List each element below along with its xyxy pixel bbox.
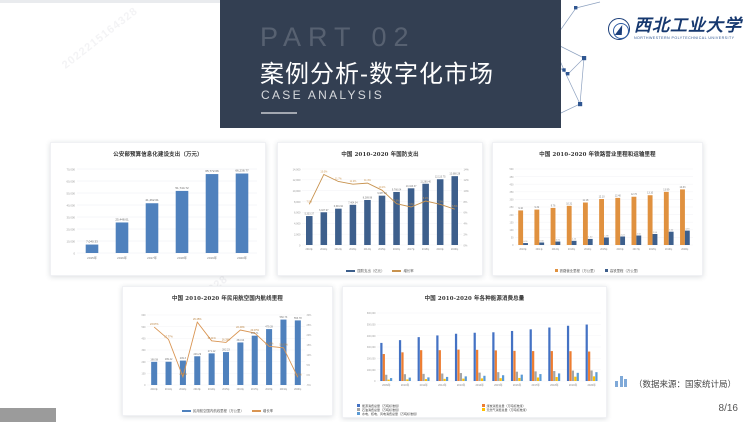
chart-card-railway: 中国 2010-2020 年铁路营业里程和运输里程 50045040035030… <box>492 142 703 276</box>
svg-text:2016年: 2016年 <box>117 255 127 260</box>
svg-text:2011年: 2011年 <box>165 387 173 391</box>
svg-text:2019年: 2019年 <box>569 383 578 387</box>
svg-text:10%: 10% <box>464 189 470 193</box>
svg-text:9.32: 9.32 <box>535 206 540 209</box>
svg-text:2009年: 2009年 <box>382 383 391 387</box>
svg-text:25%: 25% <box>307 324 313 327</box>
svg-text:2016年: 2016年 <box>237 387 245 391</box>
svg-text:11.7%: 11.7% <box>335 177 342 180</box>
svg-text:2013年: 2013年 <box>349 247 357 251</box>
svg-text:364.64: 364.64 <box>237 339 245 342</box>
svg-text:8,289.98: 8,289.98 <box>363 196 373 199</box>
svg-text:2017年: 2017年 <box>531 383 540 387</box>
chart-title: 中国 2010-2020 年铁路营业里程和运输里程 <box>493 143 702 158</box>
university-name-en: NORTHWESTERN POLYTECHNICAL UNIVERSITY <box>634 37 742 41</box>
svg-text:2014年: 2014年 <box>364 247 372 251</box>
chart-legend: 铁路营业里程（万公里） 高铁里程（万公里） <box>493 268 702 273</box>
svg-text:2010年: 2010年 <box>519 247 527 251</box>
svg-text:2015年: 2015年 <box>494 383 503 387</box>
svg-text:0.66: 0.66 <box>540 240 545 242</box>
chart-legend: 能源消费总量（万吨标准煤） 煤炭消费总量（万吨标准煤） 石油消费总量（万吨标准煤… <box>357 404 600 416</box>
svg-text:-5%: -5% <box>307 384 312 387</box>
legend-item: 国防支出（亿元） <box>346 268 384 273</box>
player-control-nub[interactable] <box>0 408 56 422</box>
svg-text:70,000: 70,000 <box>66 167 75 171</box>
svg-text:50,000: 50,000 <box>66 191 75 195</box>
legend-item: 水电、核电、风电消费总量（万吨标准煤） <box>357 412 476 416</box>
svg-text:10.1%: 10.1% <box>379 186 387 189</box>
chart-title: 中国 2010-2020 年民用航空国内航线里程 <box>123 287 332 302</box>
svg-text:150: 150 <box>510 221 515 224</box>
svg-text:2,000: 2,000 <box>294 232 301 236</box>
svg-text:9.10: 9.10 <box>518 207 523 210</box>
svg-text:10,000: 10,000 <box>66 239 75 243</box>
svg-text:65,772.66: 65,772.66 <box>205 169 219 173</box>
svg-text:10,000: 10,000 <box>293 189 301 193</box>
svg-text:8.1%: 8.1% <box>423 197 429 200</box>
svg-text:0.51: 0.51 <box>523 241 528 243</box>
svg-text:2016年: 2016年 <box>513 383 522 387</box>
svg-text:20.97%: 20.97% <box>250 329 259 332</box>
svg-text:0: 0 <box>374 380 376 383</box>
svg-text:200: 200 <box>142 361 147 364</box>
legend-label: 高铁里程（万公里） <box>610 269 641 273</box>
data-source-note: （数据来源：国家统计局） <box>634 378 736 390</box>
svg-text:23.97%: 23.97% <box>150 323 159 326</box>
svg-text:100: 100 <box>510 229 515 232</box>
chart-card-civil-aviation: 中国 2010-2020 年民用航空国内航线里程 600500400300200… <box>122 286 333 416</box>
svg-text:2017年: 2017年 <box>407 247 415 251</box>
section-title-en: CASE ANALYSIS <box>261 88 384 102</box>
svg-text:2012年: 2012年 <box>335 247 343 251</box>
svg-text:2018年: 2018年 <box>265 387 273 391</box>
svg-text:500: 500 <box>142 326 147 329</box>
chart-plot-area: 500450400350300250200150100500 9.100.519… <box>493 161 702 275</box>
svg-text:2011年: 2011年 <box>320 247 328 251</box>
svg-text:-0.88%: -0.88% <box>179 373 188 376</box>
university-name-cn: 西北工业大学 <box>634 18 742 35</box>
svg-text:9.76: 9.76 <box>551 204 556 207</box>
svg-text:2019年: 2019年 <box>280 387 288 391</box>
legend-item: 民用航空国内航线里程（万公里） <box>182 408 244 413</box>
svg-text:2014年: 2014年 <box>584 247 592 251</box>
legend-label: 铁路营业里程（万公里） <box>560 269 597 273</box>
svg-text:199.42: 199.42 <box>165 358 173 361</box>
chart-card-defense-spending: 中国 2010-2020 年国防支出 14,00012,00010,0008,0… <box>277 142 483 276</box>
svg-text:2017年: 2017年 <box>633 247 641 251</box>
svg-text:2016年: 2016年 <box>616 247 624 251</box>
svg-text:0: 0 <box>73 251 75 255</box>
svg-text:400: 400 <box>142 338 147 341</box>
svg-text:2017年: 2017年 <box>147 255 157 260</box>
svg-text:30%: 30% <box>307 314 313 317</box>
svg-text:246.29: 246.29 <box>193 353 201 356</box>
legend-item: 天然气消费总量（万吨标准煤） <box>482 408 601 412</box>
svg-text:8%: 8% <box>464 200 468 204</box>
svg-text:22.49%: 22.49% <box>236 326 245 329</box>
svg-text:13.99: 13.99 <box>663 188 670 191</box>
svg-text:198.58: 198.58 <box>150 358 158 361</box>
svg-text:2011年: 2011年 <box>420 383 429 387</box>
svg-text:400,000: 400,000 <box>367 335 376 338</box>
slide-top-edge <box>0 0 220 3</box>
svg-text:14,000: 14,000 <box>293 167 301 171</box>
chart-card-public-security: 公安部预算信息化建设支出（万元） 70,00060,00050,00040,00… <box>50 142 266 276</box>
svg-text:7.5%: 7.5% <box>307 200 313 203</box>
svg-text:60,000: 60,000 <box>66 179 75 183</box>
presentation-slide: 2022215164328 2022215164328 202221516432… <box>0 0 752 422</box>
svg-text:500: 500 <box>510 168 515 171</box>
svg-text:200: 200 <box>510 214 515 217</box>
legend-label: 国防支出（亿元） <box>357 269 384 273</box>
svg-text:209.3: 209.3 <box>180 357 187 360</box>
svg-text:2019年: 2019年 <box>436 247 444 251</box>
svg-text:2011年: 2011年 <box>536 247 544 251</box>
svg-text:41,462.01: 41,462.01 <box>145 198 159 202</box>
svg-text:282.23: 282.23 <box>222 349 230 352</box>
svg-text:12.10: 12.10 <box>599 196 606 199</box>
legend-label: 增长率 <box>263 409 273 413</box>
svg-text:12,113.75: 12,113.75 <box>435 176 446 179</box>
chart-title: 中国 2010-2020 年各种能源消费总量 <box>343 287 606 302</box>
chart-plot-area: 600,000500,000400,000300,000200,000100,0… <box>343 305 606 417</box>
svg-text:7,404.04: 7,404.04 <box>348 201 358 204</box>
svg-text:15%: 15% <box>307 344 313 347</box>
svg-text:600,000: 600,000 <box>367 312 376 315</box>
svg-text:2013年: 2013年 <box>457 383 466 387</box>
svg-text:6,691.92: 6,691.92 <box>334 205 344 208</box>
svg-text:40,000: 40,000 <box>66 203 75 207</box>
svg-text:2020年: 2020年 <box>237 255 247 260</box>
svg-text:250: 250 <box>510 206 515 209</box>
svg-text:2018年: 2018年 <box>422 247 430 251</box>
svg-text:2016年: 2016年 <box>393 247 401 251</box>
legend-label: 民用航空国内航线里程（万公里） <box>193 409 244 413</box>
svg-text:12,680.28: 12,680.28 <box>449 173 460 176</box>
svg-text:6%: 6% <box>464 211 468 215</box>
svg-text:2015年: 2015年 <box>87 255 97 260</box>
svg-text:2019年: 2019年 <box>207 255 217 260</box>
svg-text:6,000: 6,000 <box>294 211 301 215</box>
svg-text:14%: 14% <box>464 167 470 171</box>
svg-text:6.6%: 6.6% <box>452 205 458 208</box>
chart-title: 公安部预算信息化建设支出（万元） <box>51 143 265 158</box>
svg-text:2019年: 2019年 <box>665 247 673 251</box>
svg-text:2013年: 2013年 <box>568 247 576 251</box>
svg-text:10%: 10% <box>307 354 313 357</box>
svg-text:51,744.72: 51,744.72 <box>175 186 189 190</box>
page-number: 8/16 <box>719 403 738 414</box>
chart-plot-area: 6005004003002001000 30%25%20%15%10%5%0%-… <box>123 305 332 415</box>
svg-text:16.28%: 16.28% <box>222 338 231 341</box>
svg-text:2.50: 2.50 <box>637 233 642 235</box>
svg-text:2015年: 2015年 <box>378 247 386 251</box>
svg-text:66,238.77: 66,238.77 <box>235 169 249 173</box>
svg-text:6,027.97: 6,027.97 <box>319 209 329 212</box>
chart-title: 中国 2010-2020 年国防支出 <box>278 143 482 158</box>
svg-text:553.78: 553.78 <box>294 317 302 320</box>
svg-text:17.77%: 17.77% <box>164 335 173 338</box>
svg-text:0%: 0% <box>464 243 468 247</box>
svg-text:2012年: 2012年 <box>552 247 560 251</box>
svg-text:200,000: 200,000 <box>367 358 376 361</box>
svg-text:7,040.33: 7,040.33 <box>86 240 98 244</box>
legend-item: 铁路营业里程（万公里） <box>555 268 597 273</box>
chart-svg: 70,00060,00050,00040,00030,00020,00010,0… <box>51 161 266 276</box>
svg-text:2015年: 2015年 <box>222 387 230 391</box>
svg-text:4%: 4% <box>464 222 468 226</box>
svg-text:1.98: 1.98 <box>604 235 609 237</box>
legend-label: 天然气消费总量（万吨标准煤） <box>487 408 529 412</box>
svg-text:10.31: 10.31 <box>566 202 573 205</box>
svg-text:2013年: 2013年 <box>194 387 202 391</box>
svg-text:271.12: 271.12 <box>208 350 216 353</box>
svg-text:600: 600 <box>142 314 147 317</box>
svg-text:350: 350 <box>510 191 515 194</box>
svg-text:2017年: 2017年 <box>251 387 259 391</box>
legend-item: 高铁里程（万公里） <box>605 268 641 273</box>
svg-text:-1.13%: -1.13% <box>294 373 303 376</box>
svg-text:2010年: 2010年 <box>306 247 314 251</box>
svg-text:2020年: 2020年 <box>681 247 689 251</box>
svg-text:100,000: 100,000 <box>367 369 376 372</box>
svg-text:2010年: 2010年 <box>401 383 410 387</box>
svg-text:2020年: 2020年 <box>294 387 302 391</box>
svg-text:13.10: 13.10 <box>647 192 654 195</box>
chart-svg: 600,000500,000400,000300,000200,000100,0… <box>343 305 607 405</box>
chart-legend: 民用航空国内航线里程（万公里） 增长率 <box>123 408 332 413</box>
chart-legend: 国防支出（亿元） 增长率 <box>278 268 482 273</box>
svg-text:2010年: 2010年 <box>150 387 158 391</box>
svg-text:0: 0 <box>144 384 146 387</box>
section-part-label: PART 02 <box>260 22 416 53</box>
svg-text:4,000: 4,000 <box>294 222 301 226</box>
svg-text:13.63%: 13.63% <box>279 344 288 347</box>
svg-text:9,087.84: 9,087.84 <box>377 192 387 195</box>
svg-text:1.10: 1.10 <box>572 239 577 241</box>
svg-text:25,448.01: 25,448.01 <box>115 217 129 221</box>
svg-text:26.45%: 26.45% <box>193 318 202 321</box>
svg-text:300,000: 300,000 <box>367 346 376 349</box>
svg-text:8,000: 8,000 <box>294 200 301 204</box>
chart-svg: 6005004003002001000 30%25%20%15%10%5%0%-… <box>123 305 333 409</box>
svg-text:30,000: 30,000 <box>66 215 75 219</box>
svg-text:2018年: 2018年 <box>550 383 559 387</box>
svg-text:5,333.37: 5,333.37 <box>305 213 315 216</box>
svg-text:11,280.40: 11,280.40 <box>420 180 431 183</box>
svg-text:3.79: 3.79 <box>685 228 690 230</box>
svg-text:12%: 12% <box>464 178 470 182</box>
svg-text:11.2%: 11.2% <box>350 180 357 183</box>
svg-text:2012年: 2012年 <box>438 383 447 387</box>
legend-label: 增长率 <box>403 269 413 273</box>
svg-text:2015年: 2015年 <box>600 247 608 251</box>
svg-text:479.28: 479.28 <box>265 326 273 329</box>
svg-text:400: 400 <box>510 183 515 186</box>
svg-text:7.6%: 7.6% <box>394 200 400 203</box>
svg-text:5%: 5% <box>307 364 311 367</box>
chart-card-energy-consumption: 中国 2010-2020 年各种能源消费总量 600,000500,000400… <box>342 286 607 418</box>
svg-text:9,766.04: 9,766.04 <box>392 188 402 191</box>
svg-text:2.24: 2.24 <box>621 234 626 236</box>
svg-text:11.18: 11.18 <box>582 199 588 202</box>
svg-text:0: 0 <box>299 243 301 247</box>
svg-text:2020年: 2020年 <box>451 247 459 251</box>
svg-text:14.35%: 14.35% <box>265 342 274 345</box>
chart-plot-area: 70,00060,00050,00040,00030,00020,00010,0… <box>51 161 265 275</box>
university-logo: 西北工业大学 NORTHWESTERN POLYTECHNICAL UNIVER… <box>608 18 742 41</box>
legend-item: 增长率 <box>392 268 413 273</box>
chart-thumbnail-icon <box>615 374 629 387</box>
chart-plot-area: 14,00012,00010,0008,0006,0004,0002,0000 … <box>278 161 482 275</box>
svg-text:560.73: 560.73 <box>280 316 288 319</box>
svg-text:1.60: 1.60 <box>588 237 593 239</box>
svg-text:2014年: 2014年 <box>475 383 484 387</box>
svg-text:300: 300 <box>510 199 515 202</box>
svg-text:10,443.37: 10,443.37 <box>406 185 417 188</box>
svg-text:0: 0 <box>512 244 514 247</box>
legend-label: 水电、核电、风电消费总量（万吨标准煤） <box>362 412 419 416</box>
section-title-cn: 案例分析-数字化市场 <box>260 54 494 89</box>
svg-text:7.0%: 7.0% <box>408 203 414 206</box>
svg-text:14.63: 14.63 <box>679 186 686 189</box>
svg-text:422.71: 422.71 <box>251 332 259 335</box>
svg-text:12.70: 12.70 <box>631 193 638 196</box>
svg-text:0.91: 0.91 <box>556 239 561 241</box>
watermark: 2022215164328 <box>60 5 140 71</box>
svg-text:500,000: 500,000 <box>367 324 376 327</box>
svg-text:0%: 0% <box>307 374 311 377</box>
chart-svg: 14,00012,00010,0008,0006,0004,0002,0000 … <box>278 161 483 269</box>
svg-text:20%: 20% <box>307 334 313 337</box>
section-hero-panel: PART 02 案例分析-数字化市场 CASE ANALYSIS <box>220 0 561 128</box>
svg-text:17.11%: 17.11% <box>207 337 216 340</box>
chart-svg: 500450400350300250200150100500 9.100.519… <box>493 161 703 269</box>
svg-text:7.5%: 7.5% <box>437 200 443 203</box>
svg-text:2018年: 2018年 <box>177 255 187 260</box>
svg-text:2.90: 2.90 <box>653 232 658 234</box>
university-seal-icon <box>608 18 630 40</box>
svg-text:11.4%: 11.4% <box>364 179 371 182</box>
svg-text:100: 100 <box>142 373 147 376</box>
svg-text:450: 450 <box>510 176 515 179</box>
svg-text:2018年: 2018年 <box>649 247 657 251</box>
title-underline <box>261 112 297 114</box>
svg-text:2%: 2% <box>464 232 468 236</box>
svg-text:300: 300 <box>142 349 147 352</box>
legend-item: 增长率 <box>252 408 273 413</box>
svg-text:2014年: 2014年 <box>208 387 216 391</box>
svg-text:12.40: 12.40 <box>615 194 622 197</box>
svg-text:20,000: 20,000 <box>66 227 75 231</box>
svg-text:2012年: 2012年 <box>179 387 187 391</box>
svg-text:12,000: 12,000 <box>293 178 301 182</box>
svg-text:13.0%: 13.0% <box>320 170 328 173</box>
svg-text:50: 50 <box>511 237 514 240</box>
svg-text:2020年: 2020年 <box>587 383 596 387</box>
